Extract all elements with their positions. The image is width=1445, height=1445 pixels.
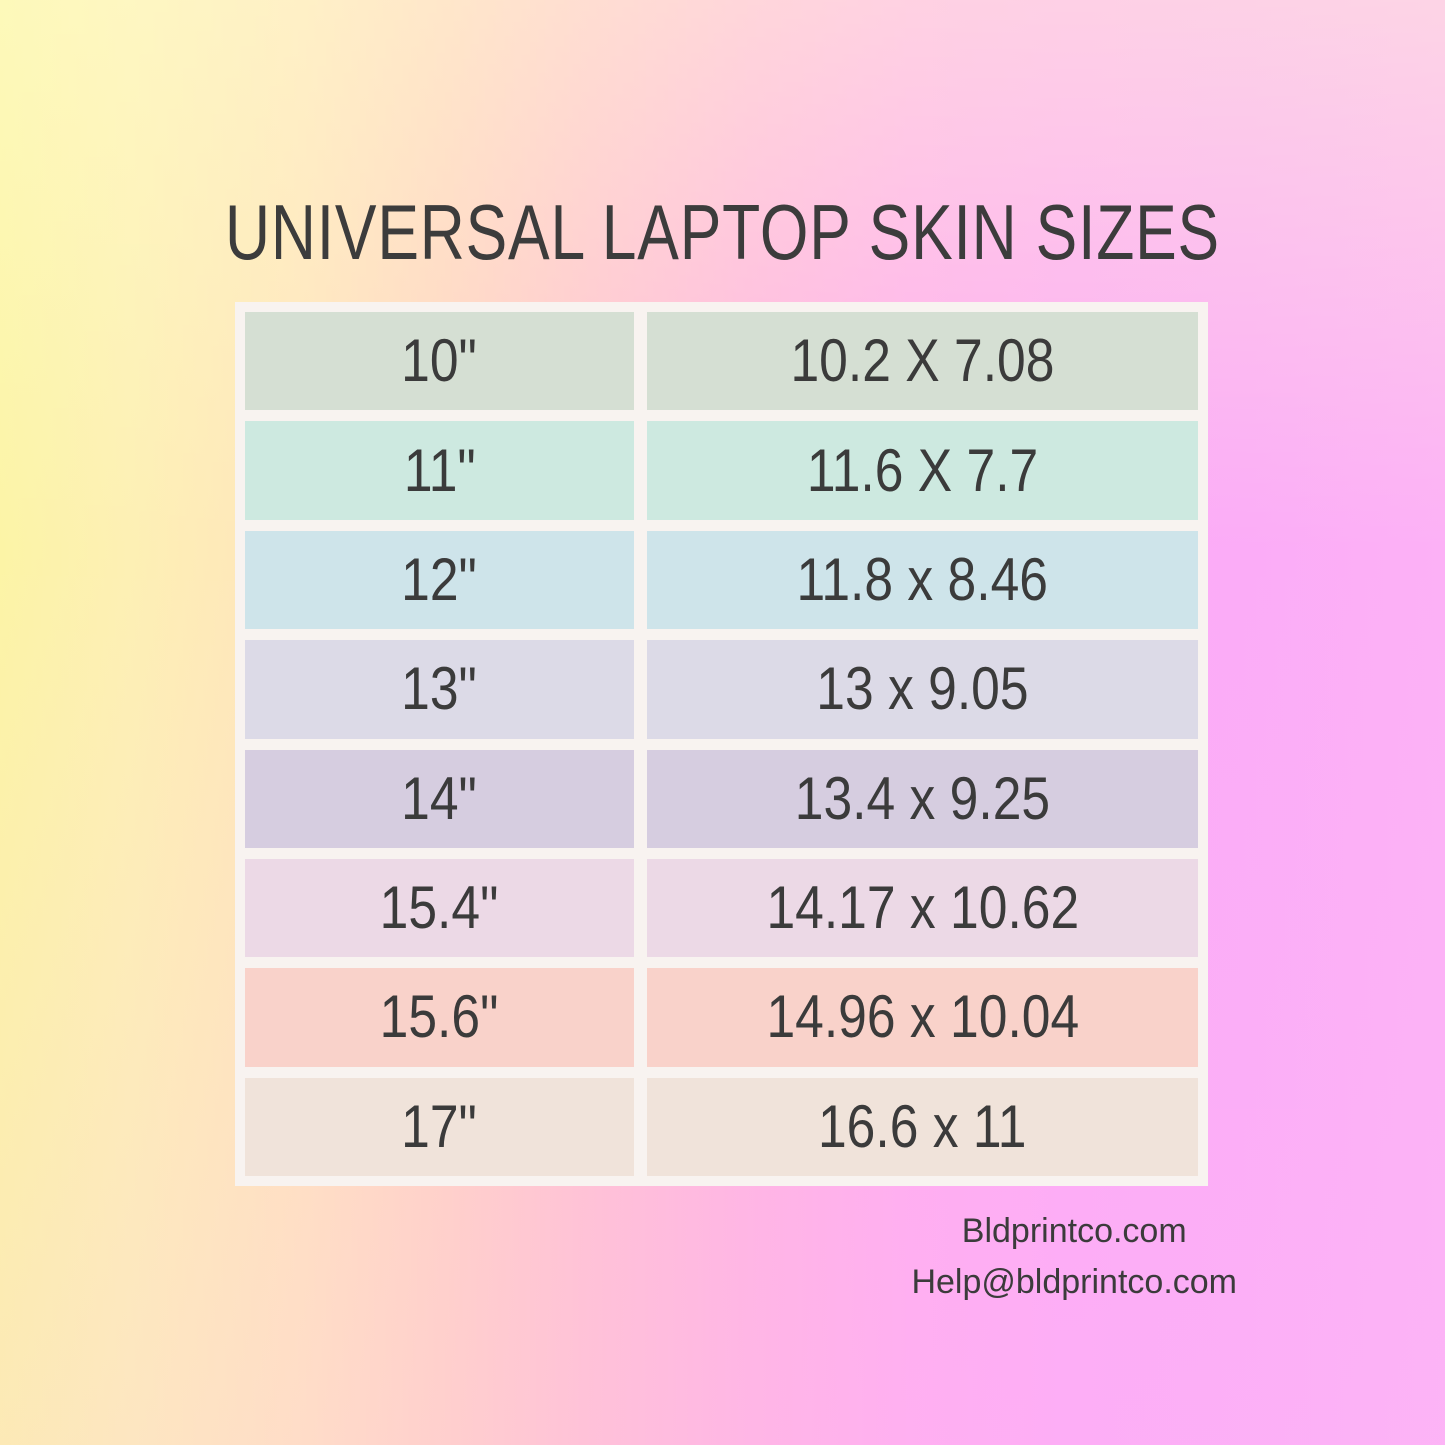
laptop-size-label: 11" [404,441,476,501]
footer-contact: Bldprintco.com Help@bldprintco.com [911,1206,1237,1308]
skin-dimensions-label: 11.8 x 8.46 [797,550,1049,610]
cell-laptop-size: 15.6" [245,968,634,1066]
cell-skin-dimensions: 14.17 x 10.62 [647,859,1198,957]
table-row: 10"10.2 X 7.08 [245,312,1198,410]
laptop-size-label: 10" [402,331,478,391]
page-title: UNIVERSAL LAPTOP SKIN SIZES [145,186,1301,278]
table-row: 12"11.8 x 8.46 [245,531,1198,629]
laptop-size-label: 15.4" [380,878,499,938]
skin-dimensions-label: 10.2 X 7.08 [791,331,1055,391]
cell-laptop-size: 12" [245,531,634,629]
cell-skin-dimensions: 10.2 X 7.08 [647,312,1198,410]
cell-laptop-size: 10" [245,312,634,410]
skin-dimensions-label: 14.17 x 10.62 [766,878,1079,938]
skin-dimensions-label: 13 x 9.05 [816,659,1028,719]
skin-dimensions-label: 16.6 x 11 [818,1097,1026,1157]
laptop-size-label: 12" [402,550,478,610]
cell-skin-dimensions: 16.6 x 11 [647,1078,1198,1176]
cell-laptop-size: 14" [245,750,634,848]
skin-dimensions-label: 13.4 x 9.25 [795,769,1050,829]
cell-skin-dimensions: 13.4 x 9.25 [647,750,1198,848]
table-row: 15.4"14.17 x 10.62 [245,859,1198,957]
footer-website[interactable]: Bldprintco.com [911,1206,1237,1257]
cell-skin-dimensions: 13 x 9.05 [647,640,1198,738]
table-row: 15.6"14.96 x 10.04 [245,968,1198,1066]
table-row: 13"13 x 9.05 [245,640,1198,738]
table-row: 14"13.4 x 9.25 [245,750,1198,848]
skin-dimensions-label: 11.6 X 7.7 [807,441,1038,501]
sizes-table: 10"10.2 X 7.0811"11.6 X 7.712"11.8 x 8.4… [235,302,1208,1186]
laptop-size-label: 15.6" [380,987,499,1047]
cell-skin-dimensions: 11.6 X 7.7 [647,421,1198,519]
skin-dimensions-label: 14.96 x 10.04 [766,987,1079,1047]
cell-skin-dimensions: 14.96 x 10.04 [647,968,1198,1066]
table-row: 17"16.6 x 11 [245,1078,1198,1176]
laptop-size-label: 13" [402,659,478,719]
laptop-size-label: 14" [402,769,478,829]
table-row: 11"11.6 X 7.7 [245,421,1198,519]
laptop-size-label: 17" [402,1097,478,1157]
cell-skin-dimensions: 11.8 x 8.46 [647,531,1198,629]
cell-laptop-size: 11" [245,421,634,519]
cell-laptop-size: 13" [245,640,634,738]
footer-email[interactable]: Help@bldprintco.com [911,1257,1237,1308]
cell-laptop-size: 17" [245,1078,634,1176]
poster-canvas: UNIVERSAL LAPTOP SKIN SIZES 10"10.2 X 7.… [0,0,1445,1445]
cell-laptop-size: 15.4" [245,859,634,957]
